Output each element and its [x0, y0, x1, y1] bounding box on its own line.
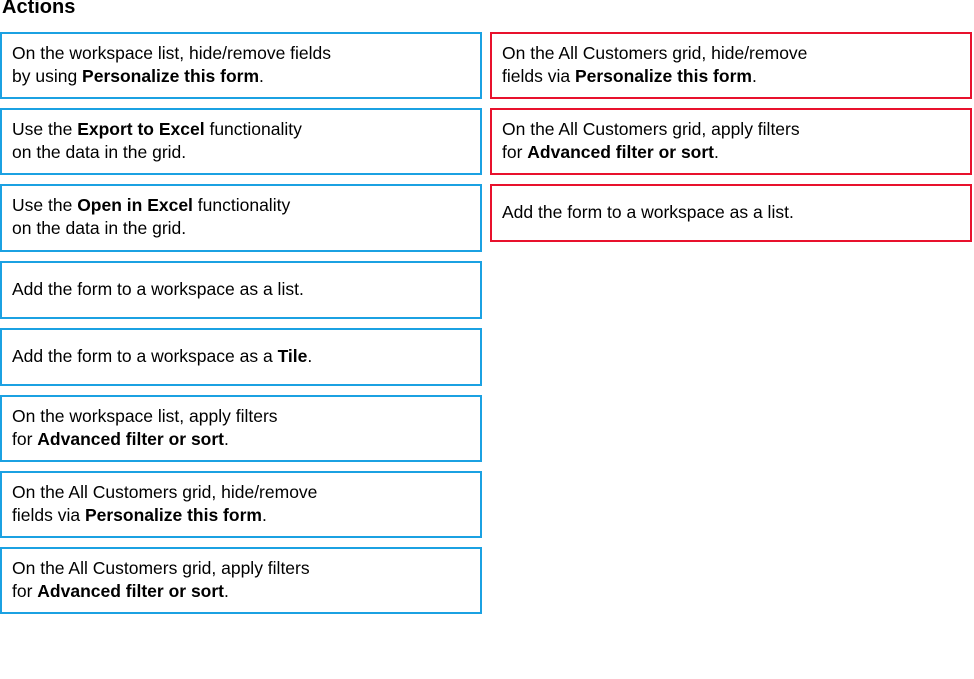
action-option-card[interactable]: On the workspace list, hide/remove field…: [0, 32, 482, 99]
action-option-card-text: On the workspace list, hide/remove field…: [12, 42, 331, 88]
action-option-card-text: On the All Customers grid, hide/removefi…: [12, 481, 317, 527]
actions-page: Actions On the workspace list, hide/remo…: [0, 0, 974, 679]
action-option-card-text: On the workspace list, apply filtersfor …: [12, 405, 278, 451]
action-option-card-text: On the All Customers grid, apply filters…: [12, 557, 310, 603]
action-option-card[interactable]: On the All Customers grid, apply filters…: [0, 547, 482, 614]
answer-option-card[interactable]: Add the form to a workspace as a list.: [490, 184, 972, 242]
answer-option-card-text: On the All Customers grid, apply filters…: [502, 118, 800, 164]
action-option-card[interactable]: Add the form to a workspace as a Tile.: [0, 328, 482, 386]
action-option-card-text: Add the form to a workspace as a Tile.: [12, 345, 312, 368]
answer-option-card-text: On the All Customers grid, hide/removefi…: [502, 42, 807, 88]
actions-left-column: On the workspace list, hide/remove field…: [0, 32, 482, 623]
action-option-card[interactable]: Use the Export to Excel functionalityon …: [0, 108, 482, 175]
action-option-card[interactable]: Add the form to a workspace as a list.: [0, 261, 482, 319]
answer-option-card[interactable]: On the All Customers grid, hide/removefi…: [490, 32, 972, 99]
action-option-card-text: Add the form to a workspace as a list.: [12, 278, 304, 301]
action-option-card[interactable]: On the workspace list, apply filtersfor …: [0, 395, 482, 462]
page-title: Actions: [2, 0, 75, 19]
action-option-card[interactable]: On the All Customers grid, hide/removefi…: [0, 471, 482, 538]
actions-right-column: On the All Customers grid, hide/removefi…: [490, 32, 972, 251]
action-option-card-text: Use the Open in Excel functionalityon th…: [12, 194, 290, 240]
action-option-card[interactable]: Use the Open in Excel functionalityon th…: [0, 184, 482, 251]
answer-option-card[interactable]: On the All Customers grid, apply filters…: [490, 108, 972, 175]
action-option-card-text: Use the Export to Excel functionalityon …: [12, 118, 302, 164]
answer-option-card-text: Add the form to a workspace as a list.: [502, 201, 794, 224]
